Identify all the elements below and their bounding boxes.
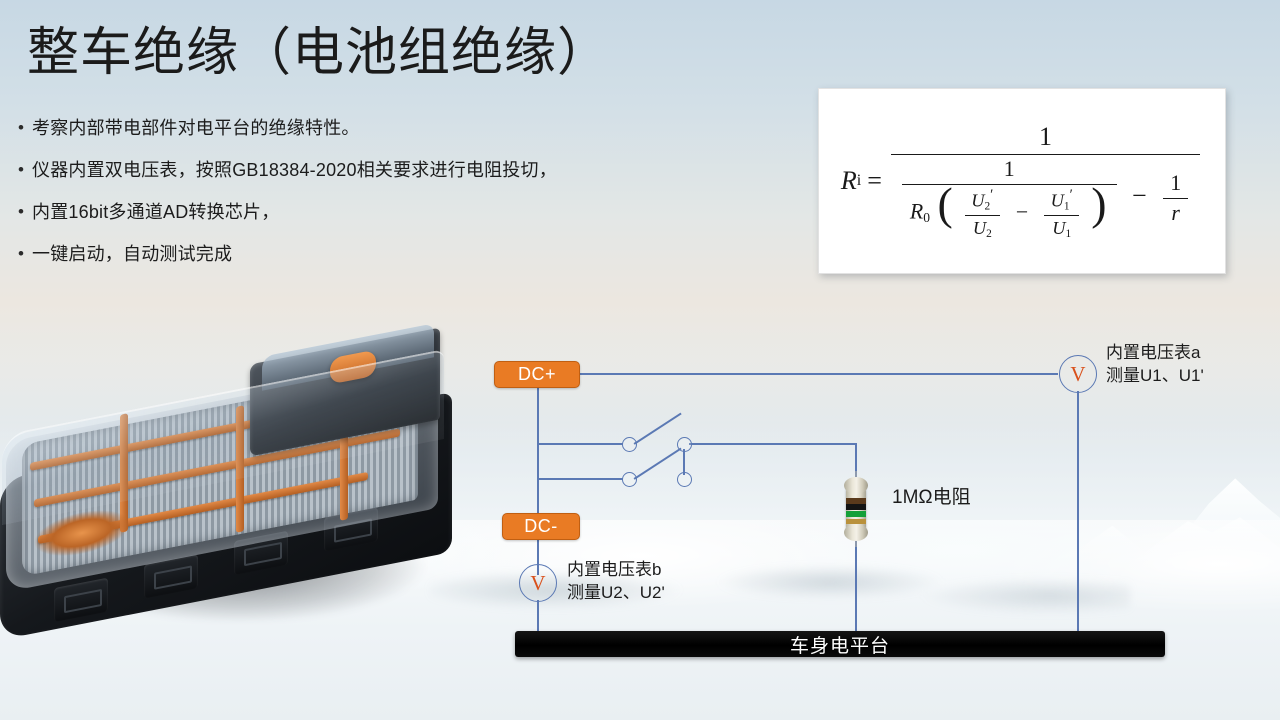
wire-voltmeter-a-to-chassis: [1077, 391, 1079, 633]
resistor-label: 1MΩ电阻: [892, 482, 971, 509]
wire-switch-output-link: [683, 449, 685, 475]
switch-blade-lower-icon[interactable]: [634, 448, 682, 480]
wire-voltmeter-b-to-chassis: [537, 600, 539, 633]
insulation-circuit-diagram: DC+ DC- V 内置电压表a 测量U1、U1' V 内置电压表b 测量U2、…: [0, 0, 1280, 720]
resistor-band-green: [846, 511, 866, 517]
wire-dcplus-to-switch: [537, 443, 623, 445]
resistor-cap-top: [844, 477, 868, 494]
chassis-ground-bar: 车身电平台: [515, 631, 1165, 657]
wire-dcminus-trunk: [537, 443, 539, 575]
resistor-icon[interactable]: [843, 471, 869, 547]
wire-resistor-to-chassis: [855, 541, 857, 633]
voltmeter-a-icon[interactable]: V: [1059, 355, 1097, 393]
resistor-band-gold: [846, 519, 866, 524]
slide-root: 整车绝缘（电池组绝缘） • 考察内部带电部件对电平台的绝缘特性。 • 仪器内置双…: [0, 0, 1280, 720]
resistor-cap-bottom: [844, 524, 868, 541]
voltmeter-a-glyph: V: [1070, 364, 1085, 385]
voltmeter-a-label: 内置电压表a 测量U1、U1': [1106, 341, 1204, 387]
voltmeter-a-label-line1: 内置电压表a: [1106, 341, 1204, 364]
voltmeter-b-label-line2: 测量U2、U2': [567, 581, 665, 604]
chassis-label: 车身电平台: [790, 631, 890, 658]
wire-dcplus-down: [537, 386, 539, 444]
dc-plus-badge[interactable]: DC+: [494, 361, 580, 388]
voltmeter-b-label-line1: 内置电压表b: [567, 558, 665, 581]
wire-switch-to-resistor: [689, 443, 856, 445]
switch-terminal-dcplus[interactable]: [622, 437, 637, 452]
voltmeter-a-label-line2: 测量U1、U1': [1106, 364, 1204, 387]
wire-dcminus-to-switch: [537, 478, 623, 480]
voltmeter-b-icon[interactable]: V: [519, 564, 557, 602]
voltmeter-b-glyph: V: [530, 573, 545, 594]
voltmeter-b-label: 内置电压表b 测量U2、U2': [567, 558, 665, 604]
resistor-band-black: [846, 504, 866, 510]
dc-minus-badge[interactable]: DC-: [502, 513, 580, 540]
switch-blade-upper-icon[interactable]: [634, 413, 682, 445]
switch-terminal-dcminus[interactable]: [622, 472, 637, 487]
wire-dcplus-to-voltmeter-a: [578, 373, 1058, 375]
